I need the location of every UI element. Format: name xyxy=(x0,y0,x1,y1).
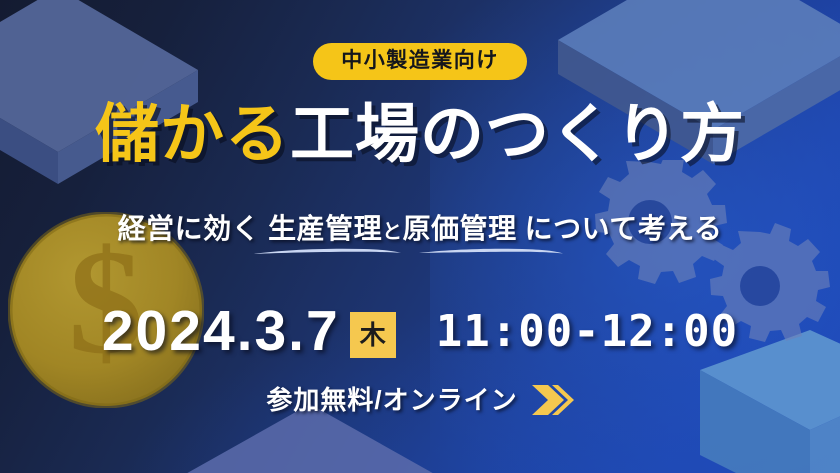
chevron-right-icon xyxy=(530,383,574,417)
brush-underline-icon xyxy=(418,247,564,257)
audience-badge: 中小製造業向け xyxy=(313,43,527,80)
title-highlight: 儲かる xyxy=(95,98,290,170)
subtitle-underlines xyxy=(0,247,840,259)
webinar-banner: $ 中小製造業向け 儲かる工場のつくり方 経営に効く生産管理と原価管理について考… xyxy=(0,0,840,473)
event-time: 11:00-12:00 xyxy=(436,310,738,354)
schedule-row: 2024.3.7 木 11:00-12:00 xyxy=(0,303,840,360)
banner-content: 中小製造業向け 儲かる工場のつくり方 経営に効く生産管理と原価管理について考える… xyxy=(0,0,840,473)
banner-subtitle: 経営に効く生産管理と原価管理について考える xyxy=(0,214,840,245)
audience-badge-row: 中小製造業向け xyxy=(0,43,840,80)
subtitle-lead: 経営に効く xyxy=(118,213,261,244)
banner-title: 儲かる工場のつくり方 xyxy=(0,102,840,166)
brush-underline-icon xyxy=(252,247,402,257)
title-rest: 工場のつくり方 xyxy=(290,98,745,170)
subtitle-term-cost: 原価管理 xyxy=(403,213,517,244)
banner-footer: 参加無料/オンライン xyxy=(0,383,840,417)
footer-label: 参加無料/オンライン xyxy=(266,387,517,413)
weekday-badge: 木 xyxy=(350,312,396,358)
subtitle-tail: について考える xyxy=(525,213,723,244)
event-date: 2024.3.7 xyxy=(102,303,340,360)
subtitle-conjunction: と xyxy=(382,221,403,243)
subtitle-term-production: 生産管理 xyxy=(268,213,382,244)
